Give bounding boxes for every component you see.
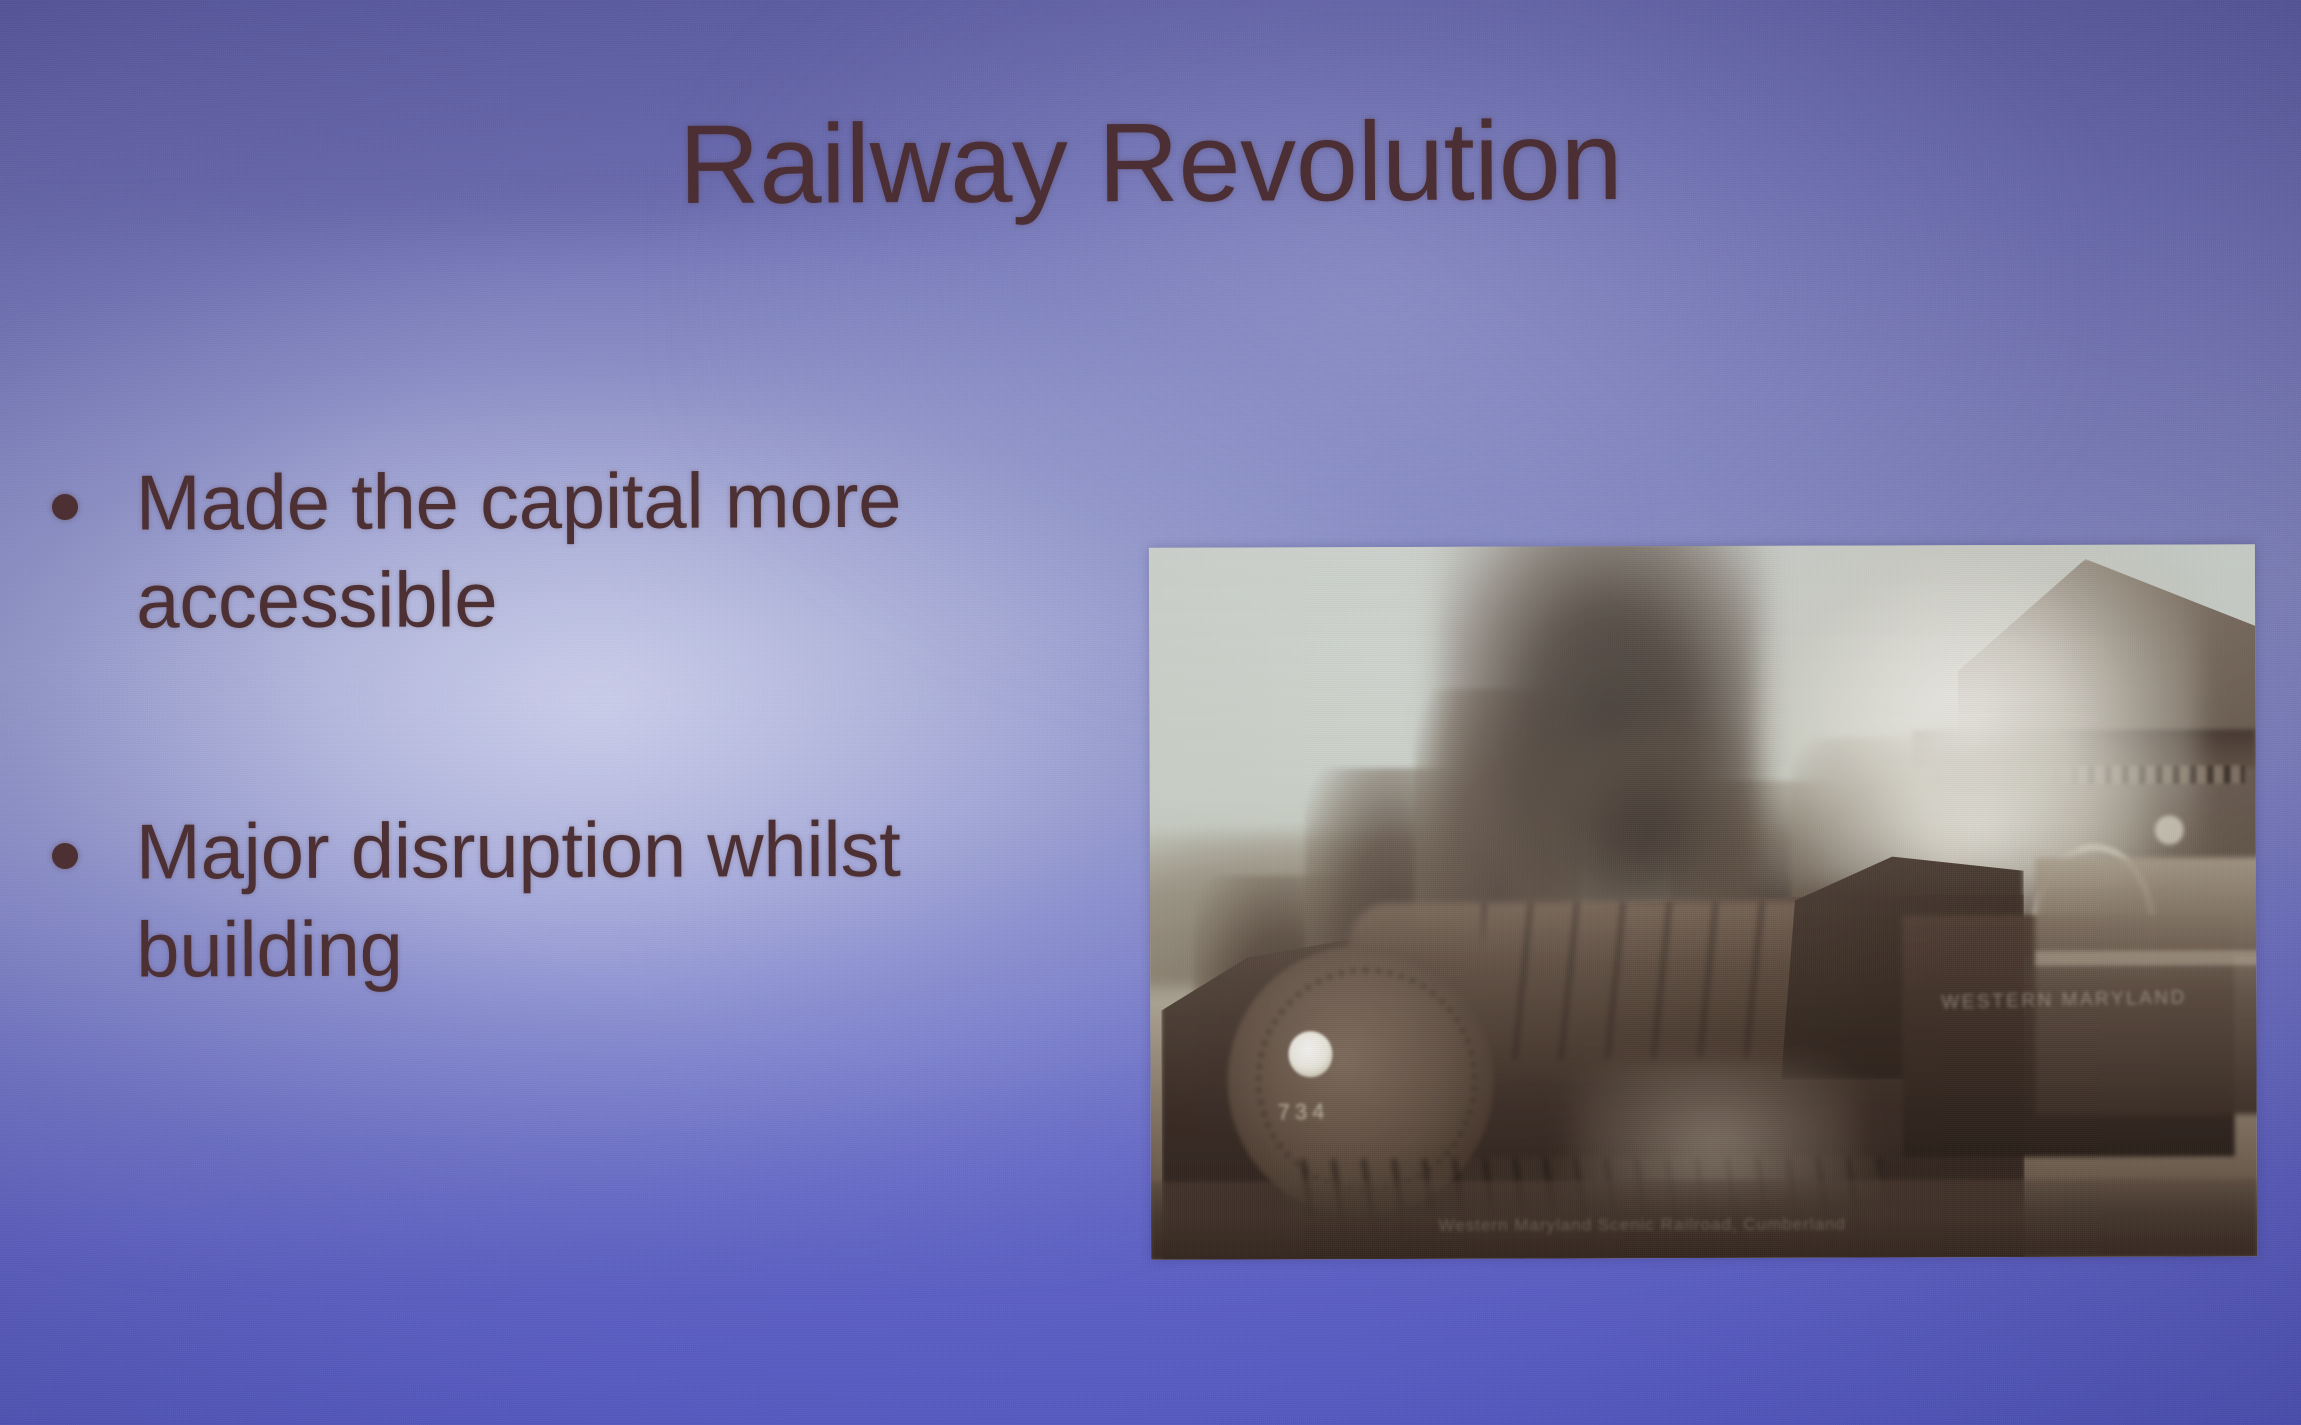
bullet-item-label: Made the capital more accessible bbox=[136, 451, 993, 651]
locomotive-photo: 734 WESTERN MARYLAND Western Maryland Sc… bbox=[1149, 544, 2257, 1259]
bullet-dot-icon bbox=[52, 494, 78, 520]
list-item: Made the capital more accessible bbox=[52, 452, 992, 649]
photo-projector-glare bbox=[1149, 544, 2257, 1259]
presentation-slide: Railway Revolution Made the capital more… bbox=[0, 0, 2301, 1425]
bullet-dot-icon bbox=[52, 843, 78, 869]
slide-title: Railway Revolution bbox=[0, 98, 2301, 229]
bullet-list: Made the capital more accessible Major d… bbox=[52, 452, 992, 1149]
list-item: Major disruption whilst building bbox=[52, 801, 992, 998]
photo-content: 734 WESTERN MARYLAND Western Maryland Sc… bbox=[1149, 544, 2257, 1259]
bullet-item-label: Major disruption whilst building bbox=[136, 799, 993, 999]
